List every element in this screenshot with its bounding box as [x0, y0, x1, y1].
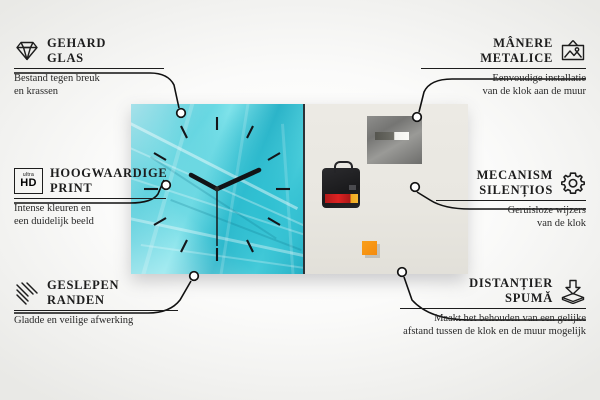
- connector-dot-mecanism-silentios: [411, 183, 420, 192]
- feature-geslepen-randen: GESLEPEN RANDEN Gladde en veilige afwerk…: [14, 278, 178, 328]
- divider: [436, 200, 586, 201]
- gear-icon: [560, 170, 586, 196]
- feature-gehard-glas: GEHARD GLAS Bestand tegen breuk en krass…: [14, 36, 164, 98]
- feature-title: GEHARD GLAS: [47, 36, 106, 65]
- feature-hoogwaardige-print: ultra HD HOOGWAARDIGE PRINT Intense kleu…: [14, 166, 166, 228]
- feature-description: Eenvoudige installatie van de klok aan d…: [421, 73, 586, 98]
- feature-title: GESLEPEN RANDEN: [47, 278, 119, 307]
- spacer-arrow-icon: [560, 278, 586, 304]
- wall-hanger-icon: [560, 38, 586, 64]
- feature-title: DISTANȚIER SPUMĂ: [469, 276, 553, 305]
- divider: [14, 310, 178, 311]
- feature-description: Intense kleuren en een duidelijk beeld: [14, 203, 166, 228]
- beveled-edges-icon: [14, 280, 40, 306]
- feature-title: MÂNERE METALICE: [480, 36, 553, 65]
- feature-description: Geruisloze wijzers van de klok: [436, 205, 586, 230]
- feature-description: Maakt het behouden van een gelijke afsta…: [400, 313, 586, 338]
- connector-dot-gehard-glas: [177, 109, 186, 118]
- ultra-hd-icon: ultra HD: [14, 168, 43, 194]
- divider: [421, 68, 586, 69]
- divider: [14, 68, 164, 69]
- connector-dot-geslepen-randen: [190, 272, 199, 281]
- divider: [400, 308, 586, 309]
- feature-description: Bestand tegen breuk en krassen: [14, 73, 164, 98]
- feature-manere-metalice: MÂNERE METALICE Eenvoudige installatie v…: [421, 36, 586, 98]
- infographic-canvas: GEHARD GLAS Bestand tegen breuk en krass…: [0, 0, 600, 400]
- diamond-icon: [14, 38, 40, 64]
- connector-dot-manere-metalice: [413, 113, 422, 122]
- feature-title: MECANISM SILENȚIOS: [477, 168, 553, 197]
- feature-mecanism-silentios: MECANISM SILENȚIOS Geruisloze wijzers va…: [436, 168, 586, 230]
- connector-dot-distantier-spuma: [398, 268, 407, 277]
- feature-description: Gladde en veilige afwerking: [14, 315, 178, 328]
- feature-title: HOOGWAARDIGE PRINT: [50, 166, 167, 195]
- divider: [14, 198, 166, 199]
- feature-distantier-spuma: DISTANȚIER SPUMĂ Maakt het behouden van …: [400, 276, 586, 338]
